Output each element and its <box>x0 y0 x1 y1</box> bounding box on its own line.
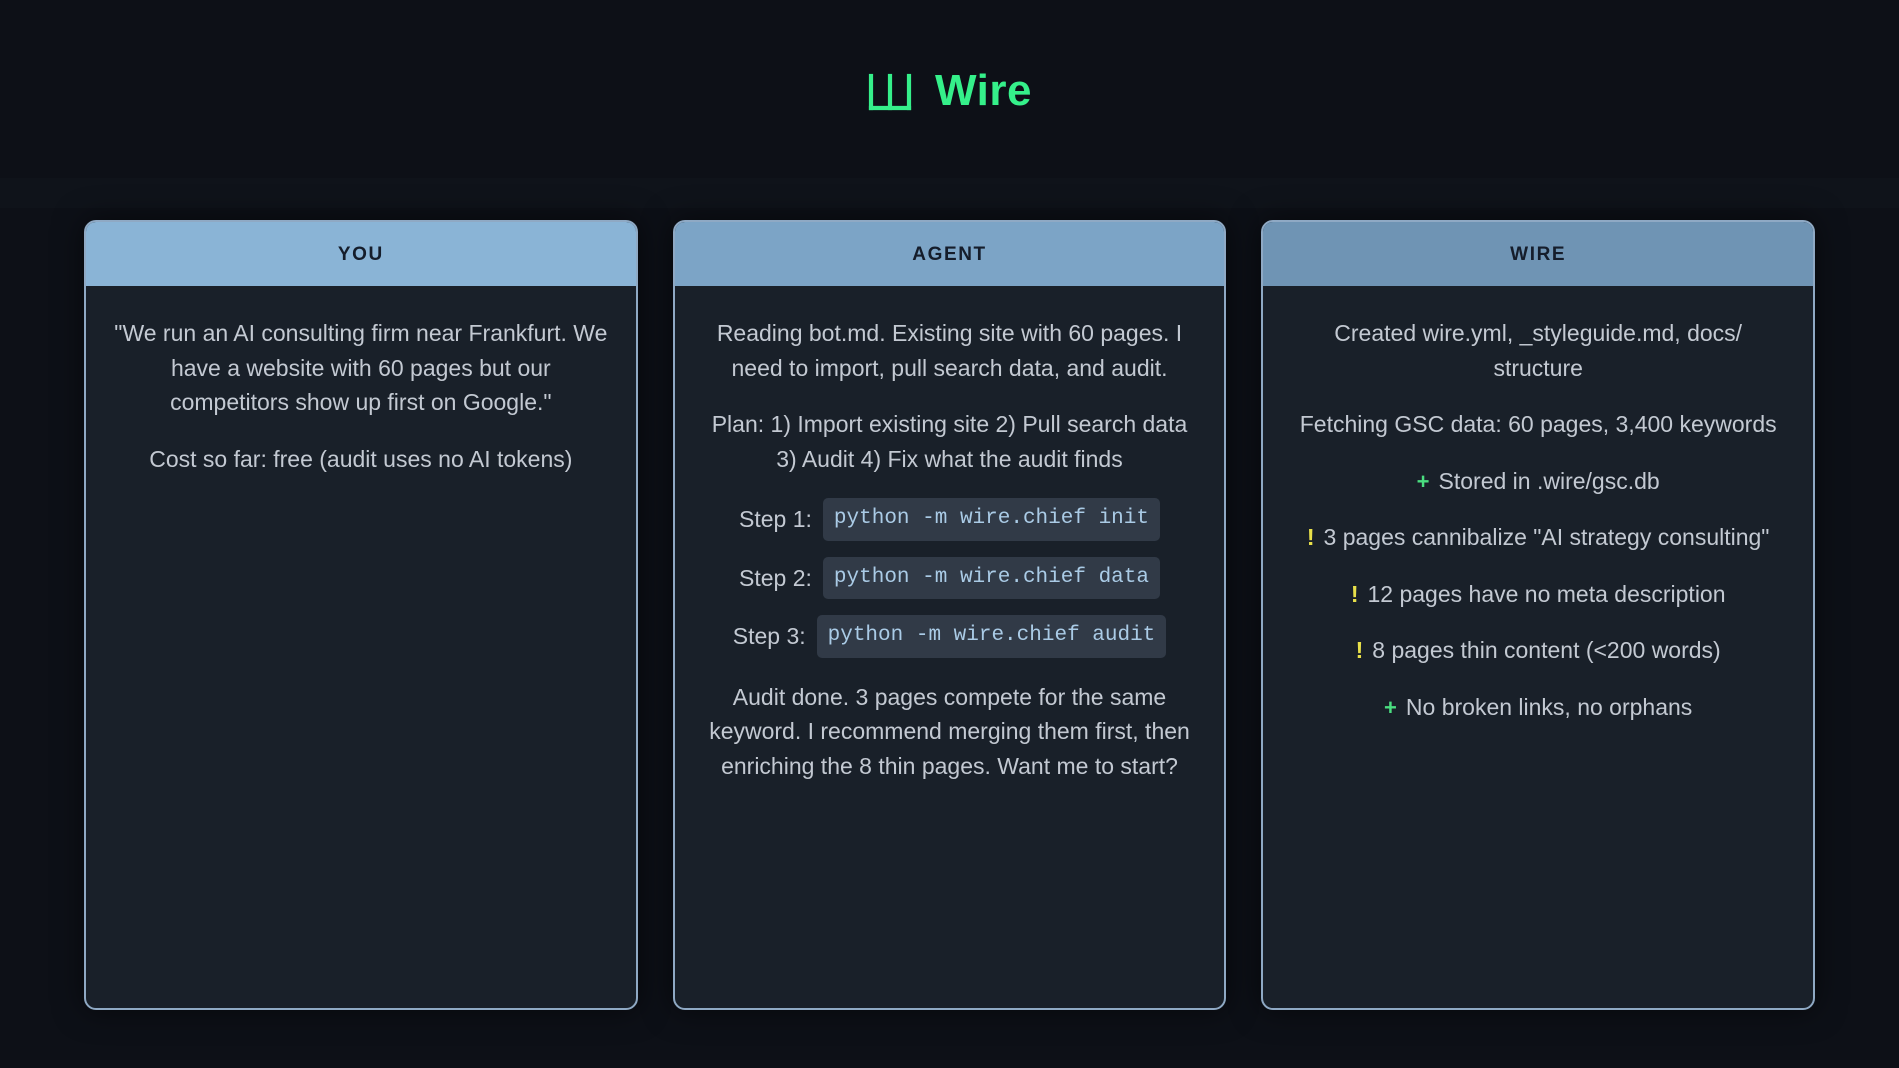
command-snippet[interactable]: python -m wire.chief audit <box>817 615 1167 658</box>
message-paragraph: Created wire.yml, _styleguide.md, docs/ … <box>1289 316 1787 385</box>
column-agent-header: AGENT <box>675 222 1225 286</box>
wire-logo-icon <box>867 66 913 116</box>
message-paragraph: Plan: 1) Import existing site 2) Pull se… <box>701 407 1199 476</box>
exclamation-warning-icon: ! <box>1356 639 1364 662</box>
plus-ok-icon: + <box>1384 697 1397 719</box>
status-text: 12 pages have no meta description <box>1368 577 1726 612</box>
column-you-body: "We run an AI consulting firm near Frank… <box>86 286 636 1008</box>
column-you: YOU "We run an AI consulting firm near F… <box>84 220 638 1010</box>
exclamation-warning-icon: ! <box>1351 583 1359 606</box>
plus-ok-icon: + <box>1417 471 1430 493</box>
message-paragraph: Reading bot.md. Existing site with 60 pa… <box>701 316 1199 385</box>
cards-backdrop-band <box>0 178 1899 208</box>
status-text: Stored in .wire/gsc.db <box>1439 464 1660 499</box>
brand-name: Wire <box>935 69 1032 113</box>
message-paragraph: Fetching GSC data: 60 pages, 3,400 keywo… <box>1289 407 1787 442</box>
column-wire-body: Created wire.yml, _styleguide.md, docs/ … <box>1263 286 1813 1008</box>
step-label: Step 3: <box>733 619 806 654</box>
brand-header: Wire <box>0 0 1899 130</box>
column-agent-body: Reading bot.md. Existing site with 60 pa… <box>675 286 1225 1008</box>
step-label: Step 2: <box>739 561 812 596</box>
page-root: Wire YOU "We run an AI consulting firm n… <box>0 0 1899 1068</box>
step-row: Step 1: python -m wire.chief init <box>701 498 1199 541</box>
message-paragraph: Audit done. 3 pages compete for the same… <box>701 680 1199 784</box>
step-row: Step 2: python -m wire.chief data <box>701 557 1199 600</box>
status-line: + Stored in .wire/gsc.db <box>1289 464 1787 499</box>
status-text: 3 pages cannibalize "AI strategy consult… <box>1324 520 1770 555</box>
status-line: + No broken links, no orphans <box>1289 690 1787 725</box>
status-line: ! 12 pages have no meta description <box>1289 577 1787 612</box>
status-line: ! 8 pages thin content (<200 words) <box>1289 633 1787 668</box>
message-paragraph: "We run an AI consulting firm near Frank… <box>112 316 610 420</box>
status-text: No broken links, no orphans <box>1406 690 1692 725</box>
message-paragraph: Cost so far: free (audit uses no AI toke… <box>112 442 610 477</box>
command-snippet[interactable]: python -m wire.chief init <box>823 498 1160 541</box>
step-label: Step 1: <box>739 502 812 537</box>
status-text: 8 pages thin content (<200 words) <box>1372 633 1720 668</box>
column-you-header: YOU <box>86 222 636 286</box>
step-row: Step 3: python -m wire.chief audit <box>701 615 1199 658</box>
conversation-columns: YOU "We run an AI consulting firm near F… <box>84 220 1815 1010</box>
command-snippet[interactable]: python -m wire.chief data <box>823 557 1160 600</box>
column-wire: WIRE Created wire.yml, _styleguide.md, d… <box>1261 220 1815 1010</box>
column-wire-header: WIRE <box>1263 222 1813 286</box>
exclamation-warning-icon: ! <box>1307 526 1315 549</box>
status-line: ! 3 pages cannibalize "AI strategy consu… <box>1289 520 1787 555</box>
column-agent: AGENT Reading bot.md. Existing site with… <box>673 220 1227 1010</box>
